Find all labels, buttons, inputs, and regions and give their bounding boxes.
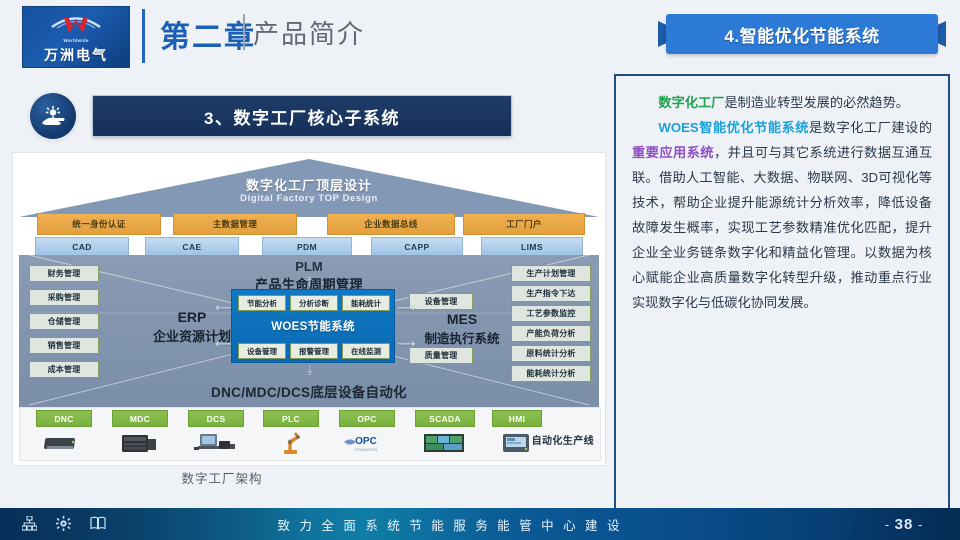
top-layer-label: 主数据管理 <box>213 218 258 230</box>
diagram-card: 数字化工厂顶层设计 Digital Factory TOP Design 统一身… <box>12 152 606 466</box>
automation-tag-label: PLC <box>282 414 300 424</box>
logo-company-name: 万洲电气 <box>44 45 108 65</box>
factory-architecture-diagram: 数字化工厂顶层设计 Digital Factory TOP Design 统一身… <box>19 159 599 459</box>
top-layer-label: 统一身份认证 <box>72 218 125 230</box>
dcs-workstation-icon <box>188 430 242 456</box>
woes-chip-label: 节能分析 <box>247 298 277 309</box>
diagram-body: PLM 产品生命周期管理 ERP 企业资源计划 财务管理 采购管理 仓储管理 销… <box>19 255 599 407</box>
design-tool-label: LIMS <box>521 242 543 252</box>
design-tool-item[interactable]: CAD <box>35 237 129 257</box>
roof-title: 数字化工厂顶层设计 <box>19 175 599 194</box>
mes-item[interactable]: 生产计划管理 <box>511 265 591 282</box>
woes-chip-label: 能耗统计 <box>351 298 381 309</box>
erp-item-label: 采购管理 <box>48 292 81 303</box>
mes-item[interactable]: 生产指令下达 <box>511 285 591 302</box>
crown-w-logo-icon <box>48 11 104 37</box>
woes-chip-label: 分析诊断 <box>299 298 329 309</box>
woes-top-chip[interactable]: 能耗统计 <box>342 295 390 311</box>
paragraph-2-text-2: ，并且可与其它系统进行数据互通互联。借助人工智能、大数据、物联网、3D可视化等技… <box>632 145 932 310</box>
automation-tag-label: DNC <box>54 414 73 424</box>
section-ribbon-badge: 4.智能优化节能系统 <box>658 14 946 54</box>
automation-tag-label: MDC <box>130 414 150 424</box>
dnc-layer-title: DNC/MDC/DCS底层设备自动化 <box>19 381 599 401</box>
erp-item[interactable]: 成本管理 <box>29 361 99 378</box>
woes-title: WOES节能系统 <box>232 318 394 334</box>
woes-chip-label: 报警管理 <box>299 346 329 357</box>
automation-tag-label: OPC <box>357 414 376 424</box>
mes-item-label: 生产计划管理 <box>526 268 575 279</box>
paragraph-1-rest: 是制造业转型发展的必然趋势。 <box>724 95 909 110</box>
mes-item-label: 能耗统计分析 <box>526 368 575 379</box>
erp-item-label: 成本管理 <box>48 364 81 375</box>
automation-tag[interactable]: DCS <box>188 410 244 427</box>
mes-item[interactable]: 原料统计分析 <box>511 345 591 362</box>
design-tools-row: CAD CAE PDM CAPP LIMS <box>19 237 599 255</box>
chapter-title: 产品简介 <box>253 14 365 51</box>
automation-tag[interactable]: SCADA <box>415 410 475 427</box>
logo-subtext: Worldwide <box>63 38 88 43</box>
mes-chip-label: 质量管理 <box>425 350 458 361</box>
woes-panel[interactable]: 节能分析 分析诊断 能耗统计 WOES节能系统 设备管理 报警管理 在线监测 <box>231 289 395 363</box>
erp-item[interactable]: 销售管理 <box>29 337 99 354</box>
mes-item-label: 原料统计分析 <box>526 348 575 359</box>
design-tool-item[interactable]: CAPP <box>371 237 463 257</box>
mes-item-label: 产能负荷分析 <box>526 328 575 339</box>
design-tool-label: CAPP <box>404 242 429 252</box>
design-tool-label: PDM <box>297 242 317 252</box>
highlight-woes-system: WOES智能优化节能系统 <box>658 120 809 135</box>
server-box-icon <box>36 430 90 456</box>
slide-header: Worldwide 万洲电气 第二章 产品简介 4.智能优化节能系统 <box>0 0 960 72</box>
automation-tag[interactable]: DNC <box>36 410 92 427</box>
automation-tag-label: SCADA <box>429 414 461 424</box>
section-title-block: 3、数字工厂核心子系统 <box>30 92 510 140</box>
erp-item[interactable]: 财务管理 <box>29 265 99 282</box>
automation-tag-label: HMI <box>509 414 525 424</box>
slide: Worldwide 万洲电气 第二章 产品简介 4.智能优化节能系统 <box>0 0 960 540</box>
top-layer-item[interactable]: 企业数据总线 <box>327 213 455 235</box>
automation-layer: DNC MDC DCS PLC OPC SCADA HMI <box>19 407 601 461</box>
header-divider <box>142 9 145 63</box>
mes-item[interactable]: 产能负荷分析 <box>511 325 591 342</box>
page-number-box: - 38 - <box>848 508 960 540</box>
woes-top-chip[interactable]: 分析诊断 <box>290 295 338 311</box>
industrial-pc-icon <box>112 430 166 456</box>
top-layer-label: 企业数据总线 <box>364 218 417 230</box>
svg-text:FOUNDATION: FOUNDATION <box>355 448 378 452</box>
svg-text:OPC: OPC <box>355 436 377 447</box>
top-layer-item[interactable]: 工厂门户 <box>463 213 585 235</box>
design-tool-item[interactable]: PDM <box>262 237 352 257</box>
production-line-label: 自动化生产线 <box>532 432 594 447</box>
top-layer-item[interactable]: 统一身份认证 <box>37 213 161 235</box>
company-logo: Worldwide 万洲电气 <box>22 6 130 68</box>
highlight-key-application: 重要应用系统 <box>632 145 714 160</box>
slide-footer: 致 力 全 面 系 统 节 能 服 务 能 管 中 心 建 设 - 38 - <box>0 508 960 540</box>
automation-tag[interactable]: PLC <box>263 410 319 427</box>
paragraph-1: 数字化工厂是制造业转型发展的必然趋势。 <box>632 90 932 115</box>
mes-chip-label: 设备管理 <box>425 296 458 307</box>
ribbon-label: 4.智能优化节能系统 <box>724 22 879 47</box>
arrow-right-icon: ⟶ <box>397 301 416 314</box>
erp-item-label: 销售管理 <box>48 340 81 351</box>
mes-item-label: 生产指令下达 <box>526 288 575 299</box>
mes-label-line1: MES <box>407 311 517 327</box>
scada-screens-icon <box>415 430 473 456</box>
design-tool-label: CAE <box>182 242 201 252</box>
top-layer-item[interactable]: 主数据管理 <box>173 213 297 235</box>
woes-top-chip[interactable]: 节能分析 <box>238 295 286 311</box>
top-layer-label: 工厂门户 <box>506 218 542 230</box>
description-panel: 数字化工厂是制造业转型发展的必然趋势。 WOES智能优化节能系统是数字化工厂建设… <box>614 74 950 510</box>
paragraph-2: WOES智能优化节能系统是数字化工厂建设的重要应用系统，并且可与其它系统进行数据… <box>632 115 932 315</box>
mes-item[interactable]: 工艺参数监控 <box>511 305 591 322</box>
highlight-digital-factory: 数字化工厂 <box>658 95 724 110</box>
paragraph-2-text-1: 是数字化工厂建设的 <box>809 120 932 135</box>
automation-tag[interactable]: MDC <box>112 410 168 427</box>
mes-item[interactable]: 能耗统计分析 <box>511 365 591 382</box>
section-title-text: 3、数字工厂核心子系统 <box>204 104 400 129</box>
robot-arm-icon <box>263 430 317 456</box>
mes-chip[interactable]: 设备管理 <box>409 293 473 310</box>
mes-label-line2: 制造执行系统 <box>407 328 517 347</box>
page-number-value: 38 <box>895 516 914 533</box>
mes-label: MES 制造执行系统 <box>407 311 517 347</box>
arrow-right-icon: ⟶ <box>397 337 416 350</box>
automation-tag[interactable]: OPC <box>339 410 395 427</box>
design-tool-item[interactable]: CAE <box>145 237 239 257</box>
automation-tag[interactable]: HMI <box>492 410 542 427</box>
erp-item[interactable]: 仓储管理 <box>29 313 99 330</box>
hand-gear-icon <box>30 93 76 139</box>
footer-slogan: 致 力 全 面 系 统 节 能 服 务 能 管 中 心 建 设 <box>0 508 900 540</box>
mes-chip[interactable]: 质量管理 <box>409 347 473 364</box>
erp-item-label: 仓储管理 <box>48 316 81 327</box>
erp-item[interactable]: 采购管理 <box>29 289 99 306</box>
chapter-number: 第二章 <box>160 12 256 56</box>
arrow-down-icon: ⤓ <box>307 363 313 376</box>
roof-subtitle: Digital Factory TOP Design <box>19 193 599 204</box>
page-number: - 38 - <box>885 516 924 533</box>
woes-bottom-chip[interactable]: 报警管理 <box>290 343 338 359</box>
automation-tag-label: DCS <box>207 414 226 424</box>
diagram-caption: 数字工厂架构 <box>12 468 432 487</box>
woes-bottom-chip[interactable]: 设备管理 <box>238 343 286 359</box>
ribbon-body: 4.智能优化节能系统 <box>666 14 938 54</box>
section-title-bar: 3、数字工厂核心子系统 <box>92 95 512 137</box>
mes-item-label: 工艺参数监控 <box>526 308 575 319</box>
design-tool-item[interactable]: LIMS <box>481 237 583 257</box>
woes-chip-label: 设备管理 <box>247 346 277 357</box>
arrow-up-icon: ⤒ <box>307 275 313 288</box>
design-tool-label: CAD <box>72 242 92 252</box>
woes-chip-label: 在线监测 <box>351 346 381 357</box>
top-layer-row: 统一身份认证 主数据管理 企业数据总线 工厂门户 <box>19 213 599 233</box>
chapter-separator <box>243 14 245 50</box>
erp-item-label: 财务管理 <box>48 268 81 279</box>
woes-bottom-chip[interactable]: 在线监测 <box>342 343 390 359</box>
opc-logo-icon: OPC FOUNDATION <box>339 430 393 456</box>
